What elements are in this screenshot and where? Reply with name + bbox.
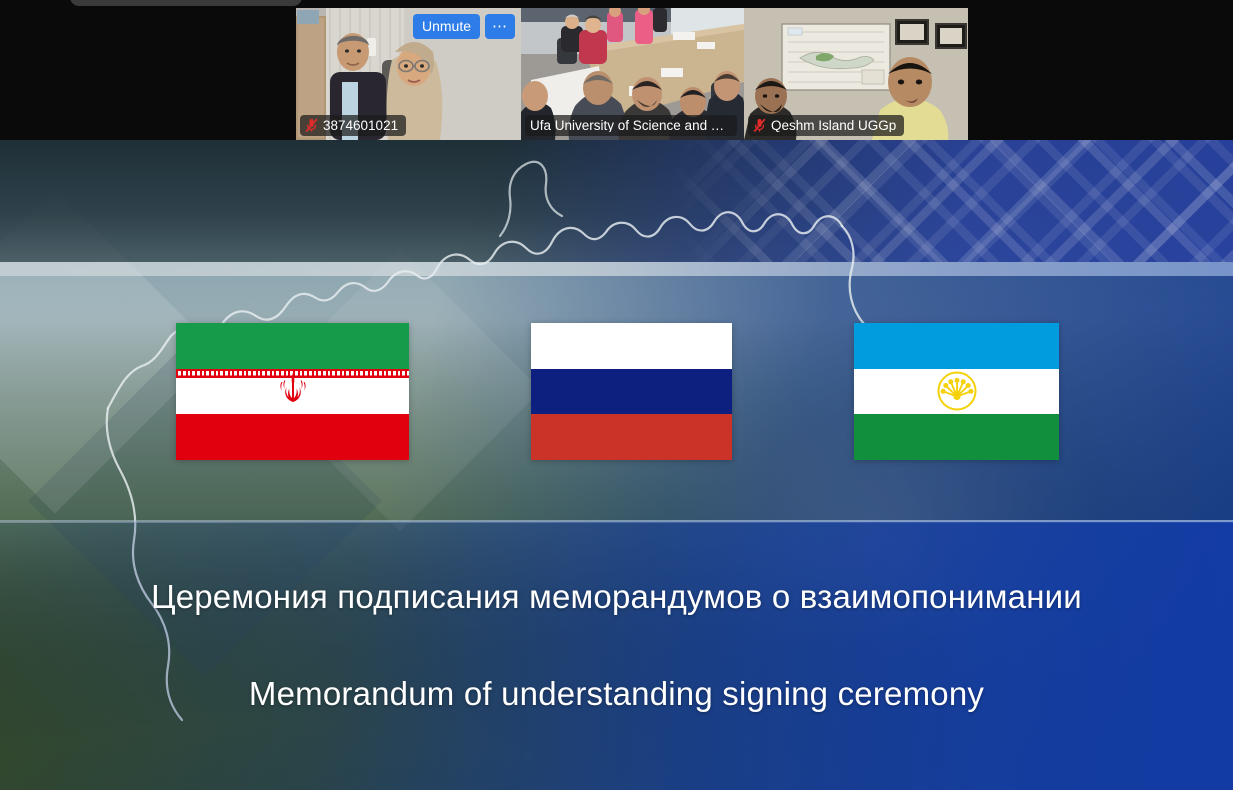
- flag-russia-stripe-red: [531, 414, 732, 460]
- flag-iran: [176, 323, 409, 460]
- flag-russia: [531, 323, 732, 460]
- participant-name-badge: Ufa University of Science and Techn…: [525, 115, 737, 136]
- shared-screen-slide: Церемония подписания меморандумов о взаи…: [0, 140, 1233, 790]
- more-options-button[interactable]: ⋯: [485, 14, 515, 39]
- flag-russia-stripe-white: [531, 323, 732, 369]
- iran-emblem-icon: [276, 371, 310, 403]
- tile-audio-controls: Unmute ⋯: [413, 14, 515, 39]
- mic-off-icon: [753, 118, 766, 133]
- video-filmstrip: Unmute ⋯ 3874601021: [296, 8, 968, 140]
- participant-name-badge: 3874601021: [300, 115, 406, 136]
- flag-iran-stripe-red: [176, 414, 409, 460]
- unmute-button[interactable]: Unmute: [413, 14, 480, 39]
- video-tile-participant-1[interactable]: Unmute ⋯ 3874601021: [296, 8, 521, 140]
- flag-russia-stripe-blue: [531, 369, 732, 415]
- participant-name-text: Ufa University of Science and Techn…: [530, 119, 729, 133]
- flag-bashkortostan-stripe-green: [854, 414, 1059, 460]
- participant-name-badge: Qeshm Island UGGp: [748, 115, 904, 136]
- flag-bashkortostan: [854, 323, 1059, 460]
- video-tile-participant-3[interactable]: Qeshm Island UGGp: [744, 8, 968, 140]
- slide-title-english: Memorandum of understanding signing cere…: [0, 675, 1233, 713]
- participant-name-text: 3874601021: [323, 119, 398, 133]
- kufic-script-band-bottom-icon: [176, 405, 409, 414]
- flag-bashkortostan-stripe-blue: [854, 323, 1059, 369]
- participant-name-text: Qeshm Island UGGp: [771, 119, 896, 133]
- flag-iran-stripe-green: [176, 323, 409, 369]
- mic-off-icon: [305, 118, 318, 133]
- video-tile-participant-2[interactable]: Ufa University of Science and Techn…: [521, 8, 744, 140]
- window-toolbar-stub: [70, 0, 302, 6]
- zoom-meeting-window: Церемония подписания меморандумов о взаи…: [0, 0, 1233, 790]
- slide-title-russian: Церемония подписания меморандумов о взаи…: [0, 578, 1233, 616]
- kurai-flower-icon: [936, 370, 978, 412]
